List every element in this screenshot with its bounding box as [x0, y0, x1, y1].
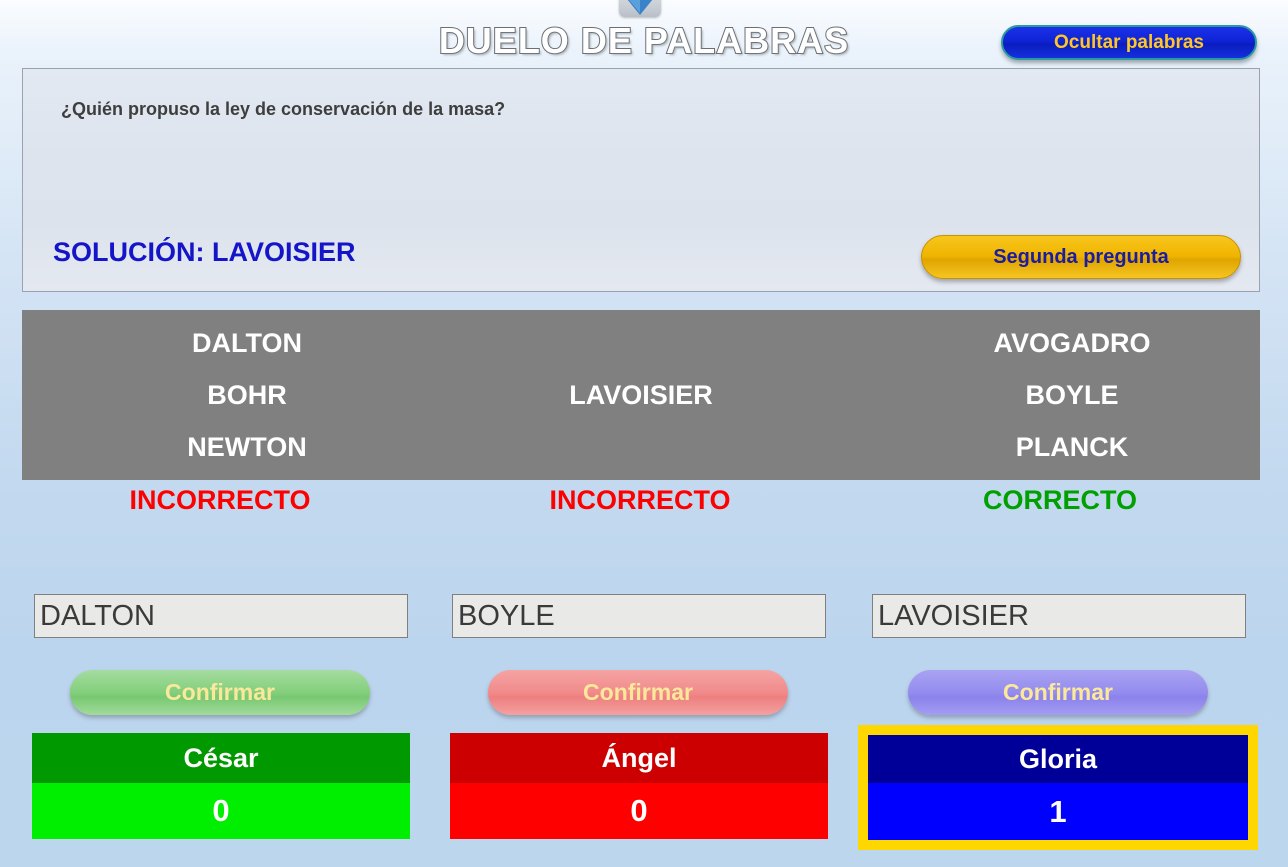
confirm-label: Confirmar	[583, 679, 693, 706]
confirm-button-player-1[interactable]: Confirmar	[70, 670, 370, 715]
player-column-1: Confirmar César 0	[0, 0, 420, 867]
player-column-2: Confirmar Ángel 0	[418, 0, 838, 867]
confirm-label: Confirmar	[165, 679, 275, 706]
confirm-label: Confirmar	[1003, 679, 1113, 706]
player-name: César	[32, 733, 410, 783]
player-column-3: Confirmar Gloria 1	[838, 0, 1258, 867]
score-box-player-1: César 0	[32, 733, 410, 839]
score-box-player-3: Gloria 1	[858, 725, 1258, 850]
player-name: Ángel	[450, 733, 828, 783]
player-score: 0	[450, 783, 828, 839]
player-score: 0	[32, 783, 410, 839]
answer-input-player-3[interactable]	[872, 594, 1246, 638]
confirm-button-player-2[interactable]: Confirmar	[488, 670, 788, 715]
player-score: 1	[868, 783, 1248, 840]
score-box-player-2: Ángel 0	[450, 733, 828, 839]
answer-input-player-2[interactable]	[452, 594, 826, 638]
answer-input-player-1[interactable]	[34, 594, 408, 638]
confirm-button-player-3[interactable]: Confirmar	[908, 670, 1208, 715]
player-name: Gloria	[868, 735, 1248, 783]
